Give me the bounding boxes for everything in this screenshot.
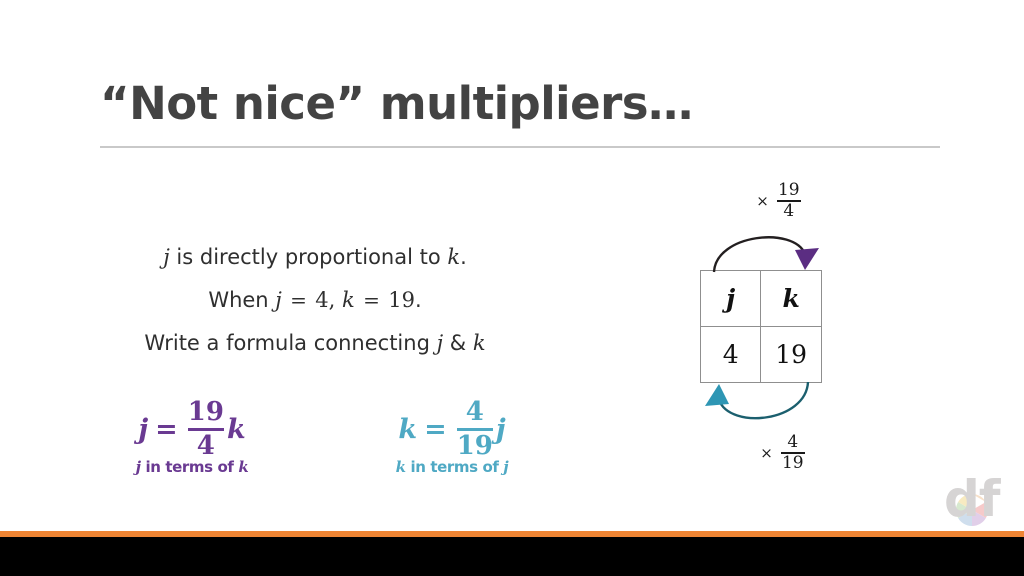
fraction-numerator: 4 — [466, 399, 484, 426]
question-equals-2: = — [355, 288, 388, 312]
question-value-var-j: j — [275, 288, 282, 312]
forward-arrow-curve — [714, 237, 805, 272]
formula-rhs-j: j — [496, 414, 506, 445]
logo-text: df — [944, 470, 1008, 530]
footer-bar — [0, 537, 1024, 576]
question-line-1: j is directly proportional to k. — [90, 236, 540, 279]
answer-j-in-terms-of-k: j = 19 4 k j in terms of k — [92, 398, 292, 476]
question-value-separator: , — [329, 288, 342, 312]
question-equals-1: = — [282, 288, 315, 312]
question-var-k: k — [447, 245, 460, 269]
caption-text: in terms of — [406, 458, 504, 476]
slide: “Not nice” multipliers… j is directly pr… — [0, 0, 1024, 576]
question-value-j: 4 — [315, 288, 328, 312]
question-line-2: When j = 4, k = 19. — [90, 279, 540, 322]
formula-fraction-19-over-4: 19 4 — [185, 399, 227, 460]
question-instruction: Write a formula connecting — [144, 331, 436, 355]
question-line-2-end: . — [415, 288, 422, 312]
answer-k-in-terms-of-j: k = 4 19 j k in terms of j — [352, 398, 552, 476]
caption-j-in-terms-of-k: j in terms of k — [92, 458, 292, 476]
question-ampersand: & — [443, 331, 473, 355]
formula-lhs-k: k — [398, 414, 417, 445]
arrow-layer — [672, 172, 892, 482]
caption-var-k: k — [238, 458, 248, 476]
caption-var-k: k — [396, 458, 406, 476]
formula-rhs-k: k — [227, 414, 246, 445]
question-value-var-k: k — [342, 288, 355, 312]
question-value-k: 19 — [388, 288, 415, 312]
fraction-numerator: 19 — [188, 399, 224, 426]
title-divider — [100, 146, 940, 148]
fraction-denominator: 4 — [197, 433, 215, 460]
watermark-logo: df — [944, 470, 1008, 530]
forward-arrowhead-icon — [795, 248, 819, 270]
formula-k-equals: k = 4 19 j — [352, 398, 552, 460]
reverse-arrowhead-icon — [705, 384, 729, 406]
caption-var-j: j — [503, 458, 508, 476]
caption-k-in-terms-of-j: k in terms of j — [352, 458, 552, 476]
question-line-1-text: is directly proportional to — [170, 245, 448, 269]
question-line-1-end: . — [460, 245, 467, 269]
reverse-arrow-curve — [719, 382, 808, 418]
formula-equals-sign: = — [417, 414, 454, 445]
question-instruction-var-k: k — [473, 331, 486, 355]
fraction-denominator: 19 — [457, 433, 493, 460]
formula-lhs-j: j — [138, 414, 148, 445]
question-when-prefix: When — [208, 288, 275, 312]
formula-fraction-4-over-19: 4 19 — [454, 399, 496, 460]
question-line-3: Write a formula connecting j & k — [90, 322, 540, 365]
formula-equals-sign: = — [148, 414, 185, 445]
question-block: j is directly proportional to k. When j … — [90, 236, 540, 365]
caption-text: in terms of — [141, 458, 239, 476]
proportion-diagram: × 19 4 j k 4 19 × 4 19 — [672, 172, 892, 482]
formula-j-equals: j = 19 4 k — [92, 398, 292, 460]
page-title: “Not nice” multipliers… — [100, 76, 940, 132]
